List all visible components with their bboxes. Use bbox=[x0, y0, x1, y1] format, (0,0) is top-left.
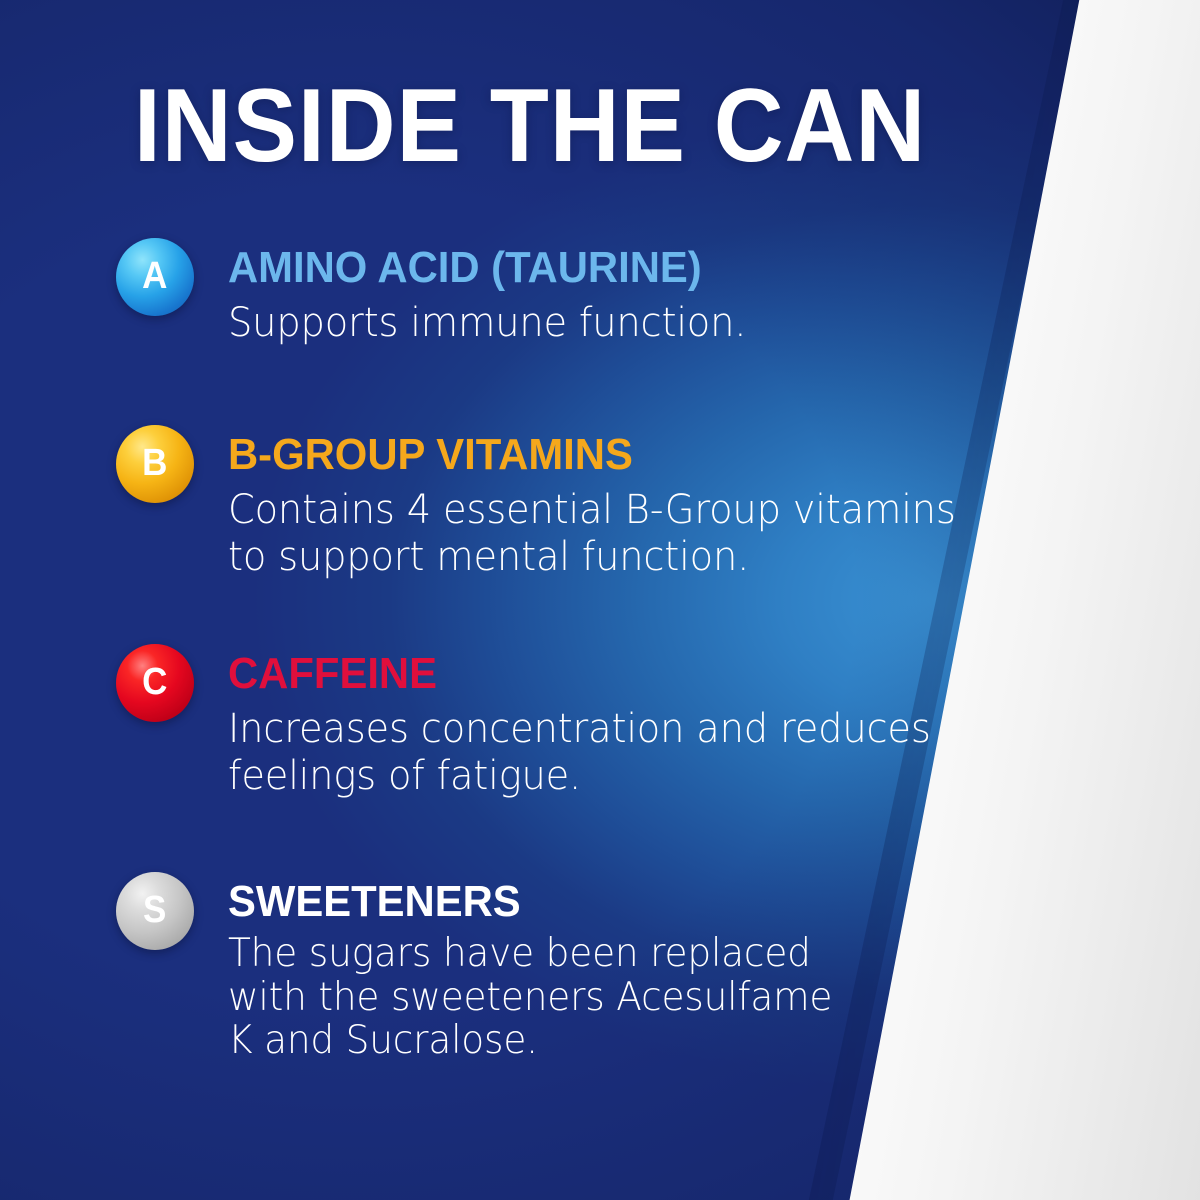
body-line: K and Sucralose. bbox=[228, 1019, 958, 1063]
body-line: Contains 4 essential B-Group vitamins bbox=[228, 487, 958, 534]
body-sweeteners: The sugars have been replaced with the s… bbox=[228, 932, 958, 1063]
badge-letter-b-text: B bbox=[142, 444, 167, 482]
badge-row-caffeine: C CAFFEINE bbox=[0, 638, 1000, 698]
heading-amino-acid: AMINO ACID (TAURINE) bbox=[228, 232, 961, 290]
badge-letter-a-text: A bbox=[142, 257, 167, 295]
badge-letter-s-text: S bbox=[143, 891, 166, 929]
body-line: Supports immune function. bbox=[228, 300, 958, 347]
badge-letter-b-icon: B bbox=[116, 425, 194, 503]
body-line: to support mental function. bbox=[228, 534, 958, 581]
heading-caffeine: CAFFEINE bbox=[228, 638, 961, 696]
badge-letter-s-icon: S bbox=[116, 872, 194, 950]
list-item-sweeteners: S SWEETENERS The sugars have been replac… bbox=[0, 866, 1000, 1063]
list-item-caffeine: C CAFFEINE Increases concentration and r… bbox=[0, 638, 1000, 800]
body-line: Increases concentration and reduces bbox=[228, 706, 958, 753]
badge-row-sweeteners: S SWEETENERS bbox=[0, 866, 1000, 926]
body-amino-acid: Supports immune function. bbox=[228, 300, 958, 347]
body-line: with the sweeteners Acesulfame bbox=[228, 976, 958, 1020]
page-title: INSIDE THE CAN bbox=[37, 74, 1023, 178]
badge-letter-c-icon: C bbox=[116, 644, 194, 722]
body-caffeine: Increases concentration and reduces feel… bbox=[228, 706, 958, 800]
badge-letter-c-text: C bbox=[142, 663, 167, 701]
heading-b-group-vitamins: B-GROUP VITAMINS bbox=[228, 419, 961, 477]
body-b-group-vitamins: Contains 4 essential B-Group vitamins to… bbox=[228, 487, 958, 581]
badge-letter-a-icon: A bbox=[116, 238, 194, 316]
list-item-b-group-vitamins: B B-GROUP VITAMINS Contains 4 essential … bbox=[0, 419, 1000, 581]
badge-row-amino-acid: A AMINO ACID (TAURINE) bbox=[0, 232, 1000, 292]
body-line: The sugars have been replaced bbox=[228, 932, 958, 976]
badge-row-b-group-vitamins: B B-GROUP VITAMINS bbox=[0, 419, 1000, 479]
ingredient-list: A AMINO ACID (TAURINE) Supports immune f… bbox=[0, 232, 1000, 1063]
inside-the-can-poster: INSIDE THE CAN A AMINO ACID (TAURINE) Su… bbox=[0, 0, 1200, 1200]
body-line: feelings of fatigue. bbox=[228, 753, 958, 800]
heading-sweeteners: SWEETENERS bbox=[228, 866, 961, 924]
list-item-amino-acid: A AMINO ACID (TAURINE) Supports immune f… bbox=[0, 232, 1000, 347]
